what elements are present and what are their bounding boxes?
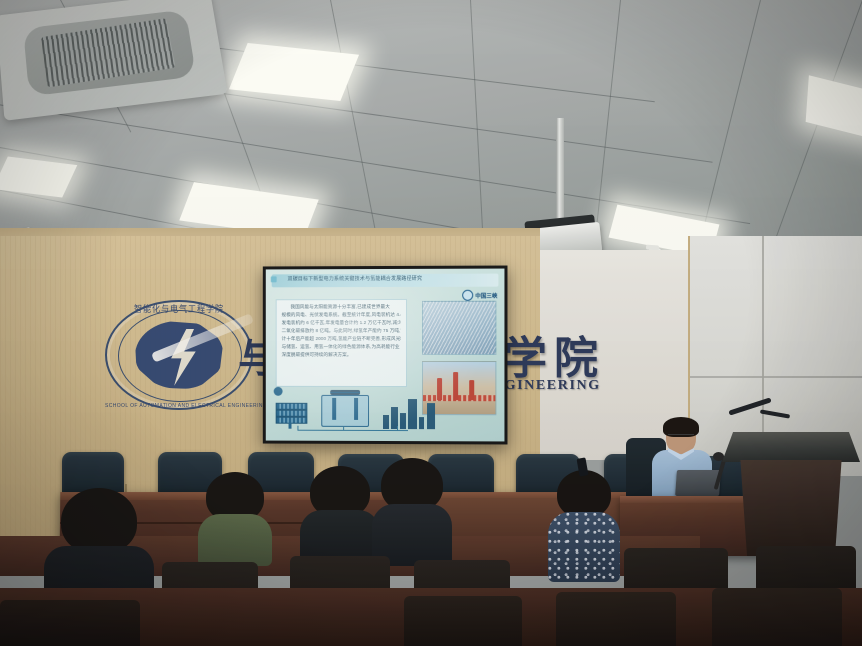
emblem-cn-text: 智能化与电气工程学院 — [112, 302, 245, 315]
ceiling-panel-light-1 — [229, 43, 359, 101]
slide-body-line: 二氧化碳排放约 8 亿吨。与此同时,绿氢年产能约 75 万吨,预 — [282, 328, 401, 334]
slide-body-line: 深度脱碳提供可持续的解决方案。 — [282, 352, 401, 358]
ceiling-panel-light-3 — [0, 157, 77, 198]
industrial-city-icon — [383, 393, 441, 429]
audience-person — [548, 470, 620, 580]
slide-title: 双碳目标下新型电力系统关键技术与氢能耦合发展路径研究 — [288, 275, 497, 283]
electrolyzer-cell-icon — [321, 395, 369, 427]
ceiling-ac-vent — [0, 0, 228, 121]
emblem-en-text: SCHOOL OF AUTOMATION AND ELECTRICAL ENGI… — [105, 403, 253, 409]
speaking-podium — [722, 432, 860, 556]
projector-mount-pole — [556, 118, 564, 230]
audience-chair[interactable] — [404, 596, 522, 646]
audience-person — [198, 472, 272, 562]
sun-icon — [274, 387, 283, 396]
circle-mark-icon — [462, 290, 473, 301]
slide-brand-logo: 中国三峡 — [462, 291, 497, 300]
slide-body-line: 我国风能与太阳能资源十分丰富,已建成世界最大 — [282, 304, 401, 310]
slide-body-line: 计十年后产能超 2000 万吨,氢能产业链不断完善,形成风光制氢 — [282, 336, 401, 342]
offshore-solar-farm-photo — [422, 301, 496, 355]
slide-brand-text: 中国三峡 — [475, 291, 497, 299]
flow-connector-line — [297, 430, 408, 431]
slide-surface: 双碳目标下新型电力系统关键技术与氢能耦合发展路径研究 中国三峡 我国风能与太阳能… — [266, 269, 505, 442]
glasses-icon — [668, 434, 694, 440]
slide-body-line: 规模的风电、光伏发电系统。截至统计年度,风电装机达 4.4 亿千瓦,光伏 — [282, 312, 401, 318]
slide-body-line: 与储氢、运氢、用氢一体化的绿色能源体系,为高耗能行业 — [282, 344, 401, 350]
audience-chair[interactable] — [712, 588, 842, 646]
audience-person — [300, 466, 380, 562]
projection-screen[interactable]: 双碳目标下新型电力系统关键技术与氢能耦合发展路径研究 中国三峡 我国风能与太阳能… — [263, 266, 508, 445]
audience-person — [372, 458, 452, 562]
slide-body-text: 我国风能与太阳能资源十分丰富,已建成世界最大 规模的风电、光伏发电系统。截至统计… — [276, 299, 407, 387]
school-emblem: 智能化与电气工程学院 SCHOOL OF AUTOMATION AND ELEC… — [105, 300, 253, 410]
audience-chair[interactable] — [0, 600, 140, 646]
audience-chair[interactable] — [556, 592, 676, 646]
slide-corner-mark-icon — [271, 276, 277, 282]
lecture-hall-photo: 智能化与电气工程学院 SCHOOL OF AUTOMATION AND ELEC… — [0, 0, 862, 646]
slide-body-line: 发电装机约 6 亿千瓦,年发电量合计约 1.2 万亿千瓦时,减少 — [282, 320, 401, 326]
slide-diagram-icons — [274, 389, 418, 433]
solar-panel-icon — [276, 403, 306, 429]
